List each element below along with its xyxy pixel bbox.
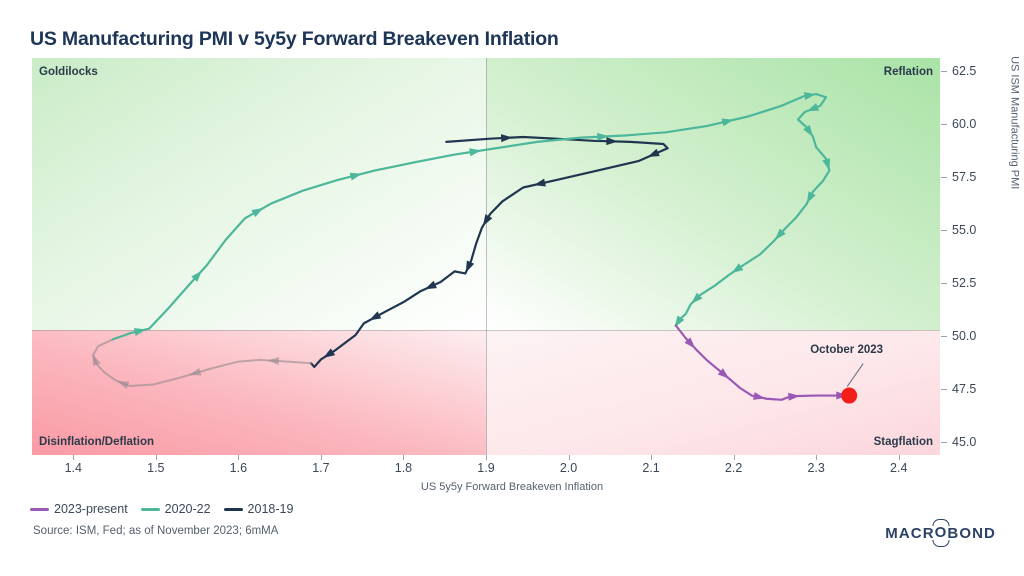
legend-label: 2020-22 xyxy=(165,502,211,516)
y-tick-mark xyxy=(941,230,947,231)
x-tick-label: 2.3 xyxy=(807,461,824,475)
series-2020-22 xyxy=(113,90,833,339)
legend-swatch xyxy=(141,508,160,511)
direction-arrow xyxy=(646,149,660,161)
y-tick-label: 47.5 xyxy=(952,382,976,396)
direction-arrow xyxy=(788,392,800,401)
legend-label: 2023-present xyxy=(54,502,128,516)
series-2018-19 xyxy=(311,134,668,367)
plot-area: Goldilocks Reflation Disinflation/Deflat… xyxy=(32,58,940,455)
x-tick-label: 2.1 xyxy=(642,461,659,475)
x-tick-label: 2.2 xyxy=(725,461,742,475)
y-tick-mark xyxy=(941,283,947,284)
logo-o-glyph: O xyxy=(935,524,948,542)
logo-text-part2: BOND xyxy=(947,525,996,542)
y-tick-label: 60.0 xyxy=(952,117,976,131)
y-tick-mark xyxy=(941,177,947,178)
direction-arrow xyxy=(188,368,201,379)
y-tick-label: 57.5 xyxy=(952,170,976,184)
direction-arrow xyxy=(350,170,363,181)
x-tick-label: 1.6 xyxy=(230,461,247,475)
chart-page: US Manufacturing PMI v 5y5y Forward Brea… xyxy=(0,0,1024,576)
logo-arc-bottom-icon xyxy=(933,540,950,547)
direction-arrow xyxy=(803,191,815,205)
legend-swatch xyxy=(224,508,243,511)
direction-arrow xyxy=(251,204,265,217)
y-tick-label: 52.5 xyxy=(952,276,976,290)
y-tick-mark xyxy=(941,124,947,125)
x-axis-title: US 5y5y Forward Breakeven Inflation xyxy=(0,481,1024,493)
y-tick-mark xyxy=(941,389,947,390)
annotation-leader-line xyxy=(847,364,863,387)
x-tick-mark xyxy=(73,455,74,460)
y-tick-label: 62.5 xyxy=(952,64,976,78)
y-tick-label: 50.0 xyxy=(952,329,976,343)
legend-item-2020-22[interactable]: 2020-22 xyxy=(141,502,211,516)
direction-arrow xyxy=(606,137,618,145)
legend-label: 2018-19 xyxy=(248,502,294,516)
direction-arrow xyxy=(423,281,437,293)
direction-arrow xyxy=(479,214,492,228)
logo-arc-top-icon xyxy=(933,519,950,526)
y-tick-mark xyxy=(941,336,947,337)
x-tick-mark xyxy=(899,455,900,460)
direction-arrow xyxy=(501,134,513,143)
y-axis-title: US ISM Manufacturing PMI xyxy=(1008,56,1020,189)
x-tick-mark xyxy=(569,455,570,460)
x-tick-label: 1.8 xyxy=(395,461,412,475)
direction-arrow xyxy=(367,311,381,324)
source-note: Source: ISM, Fed; as of November 2023; 6… xyxy=(33,525,278,537)
x-tick-label: 1.7 xyxy=(312,461,329,475)
page-title: US Manufacturing PMI v 5y5y Forward Brea… xyxy=(30,28,559,51)
x-tick-mark xyxy=(156,455,157,460)
october-2023-annotation: October 2023 xyxy=(810,344,883,356)
legend-item-2018-19[interactable]: 2018-19 xyxy=(224,502,294,516)
y-tick-label: 45.0 xyxy=(952,435,976,449)
x-tick-label: 1.9 xyxy=(477,461,494,475)
series-canvas xyxy=(32,58,940,455)
october-2023-point[interactable] xyxy=(841,388,857,404)
x-tick-mark xyxy=(651,455,652,460)
x-tick-label: 1.4 xyxy=(65,461,82,475)
x-tick-mark xyxy=(403,455,404,460)
legend-item-2023-present[interactable]: 2023-present xyxy=(30,502,128,516)
direction-arrow xyxy=(321,348,335,361)
direction-arrow xyxy=(805,103,819,115)
legend: 2023-present2020-222018-19 xyxy=(30,502,300,516)
x-tick-label: 1.5 xyxy=(147,461,164,475)
y-tick-label: 55.0 xyxy=(952,223,976,237)
x-tick-mark xyxy=(734,455,735,460)
x-tick-label: 2.4 xyxy=(890,461,907,475)
x-tick-mark xyxy=(321,455,322,460)
macrobond-logo: MACROBOND xyxy=(885,524,996,542)
y-tick-mark xyxy=(941,71,947,72)
x-tick-mark xyxy=(238,455,239,460)
series-2023-present xyxy=(676,326,849,403)
series-transition-2019-2020 xyxy=(89,339,311,389)
x-tick-mark xyxy=(816,455,817,460)
legend-swatch xyxy=(30,508,49,511)
logo-text-part1: MACR xyxy=(885,525,934,542)
direction-arrow xyxy=(822,158,833,171)
direction-arrow xyxy=(267,356,279,365)
x-tick-mark xyxy=(486,455,487,460)
y-tick-mark xyxy=(941,442,947,443)
direction-arrow xyxy=(116,377,130,389)
x-tick-label: 2.0 xyxy=(560,461,577,475)
